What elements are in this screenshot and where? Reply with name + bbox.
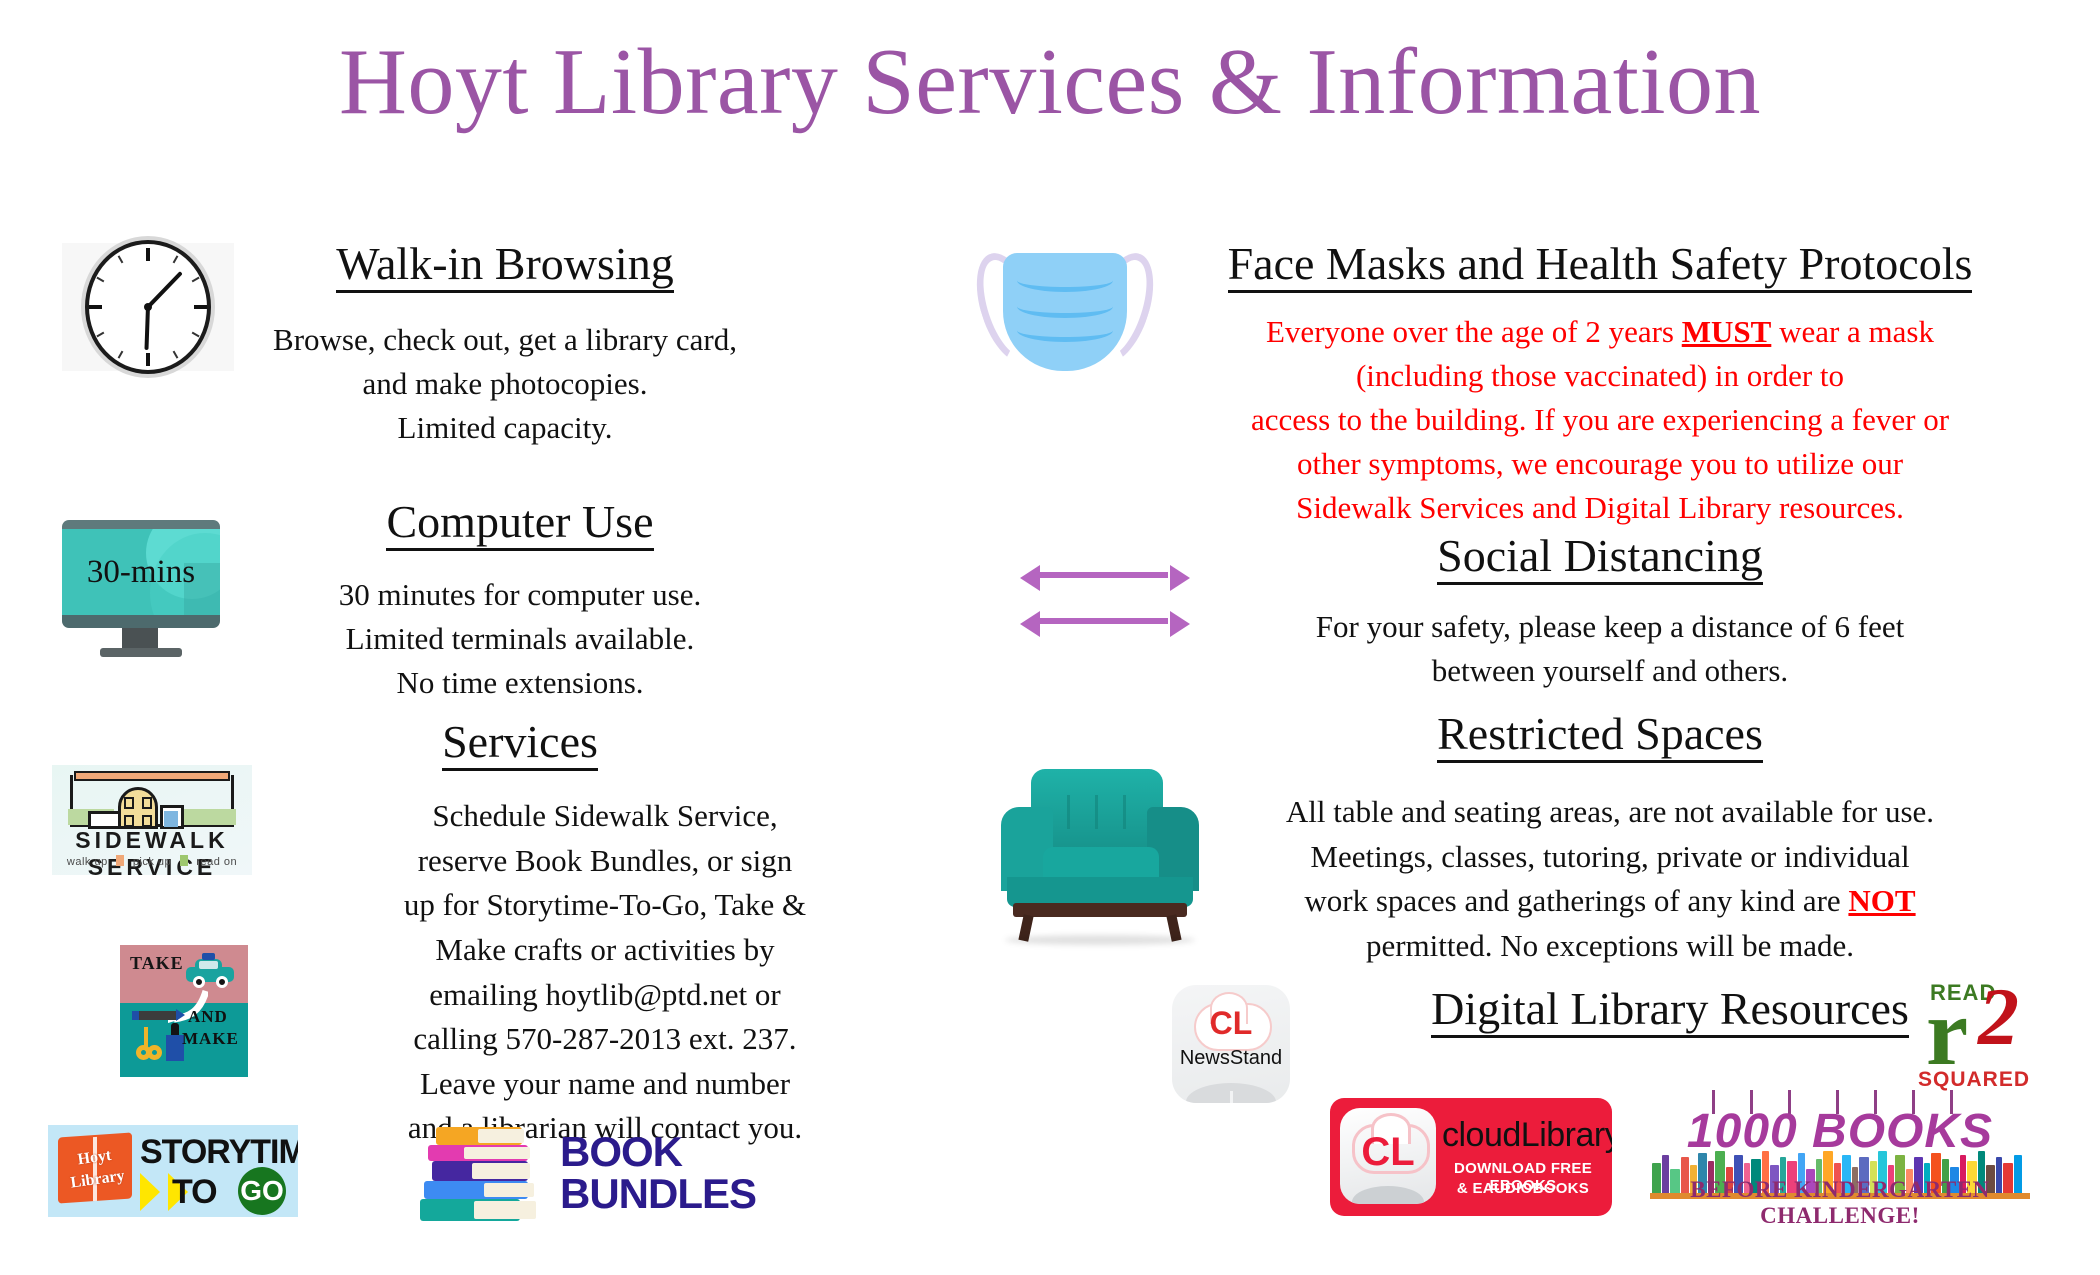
book-bundles-label: BOOK BUNDLES <box>560 1131 756 1215</box>
book-stack-icon <box>420 1125 550 1225</box>
sidewalk-service-logo[interactable]: SIDEWALK SERVICE walk up pick up read on <box>52 765 252 875</box>
thousand-books-subtitle: BEFORE KINDERGARTEN CHALLENGE! <box>1650 1177 2030 1229</box>
take-label: TAKE <box>130 953 184 974</box>
face-masks-body: Everyone over the age of 2 years MUST we… <box>1170 310 2030 530</box>
face-mask-icon <box>985 245 1145 395</box>
cloudlibrary-label: cloudLibrary <box>1442 1116 1612 1155</box>
storytime-label: STORYTIME <box>140 1133 298 1172</box>
to-label: TO <box>172 1173 217 1212</box>
cloudlibrary-logo[interactable]: CL cloudLibrary DOWNLOAD FREE EBOOKS & E… <box>1330 1098 1612 1216</box>
newsstand-label: NewsStand <box>1172 1047 1290 1070</box>
go-badge: GO <box>238 1167 286 1215</box>
page-title: Hoyt Library Services & Information <box>0 28 2100 136</box>
services-heading: Services <box>360 718 680 771</box>
clock-icon <box>62 243 234 371</box>
make-label: MAKE <box>182 1029 239 1049</box>
monitor-icon: 30-mins <box>62 520 222 660</box>
exponent-two: 2 <box>1978 982 2019 1052</box>
social-distancing-heading: Social Distancing <box>1340 532 1860 585</box>
cl-mark: CL <box>1340 1130 1436 1175</box>
walk-in-browsing-body: Browse, check out, get a library card, a… <box>255 318 755 450</box>
restricted-spaces-heading: Restricted Spaces <box>1340 710 1860 763</box>
digital-library-resources-heading: Digital Library Resources <box>1340 985 2000 1038</box>
poster-canvas: Hoyt Library Services & Information Walk… <box>0 0 2100 1275</box>
armchair-icon <box>995 765 1205 940</box>
squared-label: SQUARED <box>1918 1068 2030 1092</box>
monitor-icon-label: 30-mins <box>62 554 220 591</box>
double-arrow-icon <box>1020 548 1200 638</box>
book-bundles-logo[interactable]: BOOK BUNDLES <box>420 1125 760 1225</box>
cl-newsstand-logo[interactable]: CL NewsStand <box>1172 985 1290 1103</box>
r-letter: r <box>1926 992 1968 1073</box>
and-label: AND <box>188 1007 228 1027</box>
services-body: Schedule Sidewalk Service, reserve Book … <box>390 794 820 1151</box>
open-book-icon: Hoyt Library <box>58 1135 132 1205</box>
cloudlibrary-sub2: & EAUDIOBOOKS <box>1438 1180 1608 1197</box>
social-distancing-body: For your safety, please keep a distance … <box>1270 605 1950 693</box>
take-and-make-logo[interactable]: TAKE AND MAKE <box>120 945 248 1077</box>
restricted-spaces-body: All table and seating areas, are not ava… <box>1240 790 1980 969</box>
computer-use-body: 30 minutes for computer use. Limited ter… <box>280 573 760 705</box>
walk-in-browsing-heading: Walk-in Browsing <box>270 240 740 293</box>
cl-mark: CL <box>1172 1005 1290 1042</box>
read-squared-logo[interactable]: READ r 2 SQUARED <box>1912 978 2092 1096</box>
storytime-to-go-logo[interactable]: Hoyt Library STORYTIME TO GO <box>48 1125 298 1217</box>
computer-use-heading: Computer Use <box>310 498 730 551</box>
scissors-icon <box>136 1027 162 1061</box>
car-icon <box>186 959 234 985</box>
thousand-books-logo[interactable]: 1000 BOOKS <box>1650 1090 2030 1235</box>
sidewalk-service-tagline: walk up pick up read on <box>52 855 252 868</box>
face-masks-heading: Face Masks and Health Safety Protocols <box>1190 240 2010 293</box>
